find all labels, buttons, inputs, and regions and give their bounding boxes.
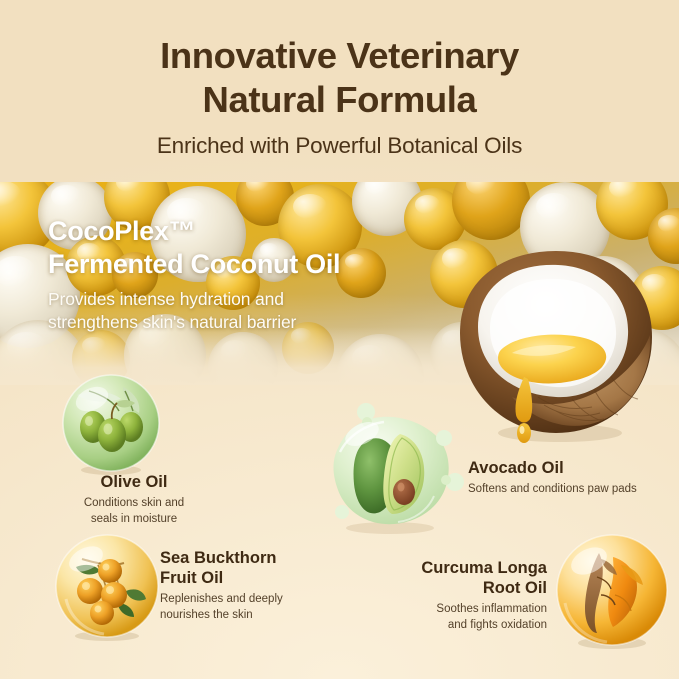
olive-oil-name: Olive Oil	[34, 472, 234, 493]
product-infographic: Innovative Veterinary Natural Formula En…	[0, 0, 679, 679]
header-section: Innovative Veterinary Natural Formula En…	[0, 0, 679, 182]
sea-buckthorn-name-line-2: Fruit Oil	[160, 568, 355, 588]
sea-buckthorn-name-line-1: Sea Buckthorn	[160, 548, 355, 568]
olive-oil-desc-line-1: Conditions skin and	[34, 496, 234, 512]
banner-text-block: CocoPlex™ Fermented Coconut Oil Provides…	[48, 215, 478, 334]
sea-buckthorn-berry	[90, 601, 114, 625]
curcuma-desc-line-2: and fights oxidation	[385, 618, 547, 634]
avocado-oil-description: Softens and conditions paw pads	[468, 482, 678, 498]
olive-oil-description: Conditions skin and seals in moisture	[34, 496, 234, 527]
page-title-line-2: Natural Formula	[160, 78, 519, 122]
coconut-oil-droplet	[517, 423, 531, 443]
curcuma-description: Soothes inflammation and fights oxidatio…	[385, 602, 547, 633]
sea-buckthorn-oil-droplet-icon	[52, 533, 162, 643]
coconut-illustration	[452, 247, 658, 452]
page-title-line-1: Innovative Veterinary	[160, 34, 519, 78]
avocado-pit	[393, 479, 415, 505]
sea-buckthorn-desc-line-1: Replenishes and deeply	[160, 592, 355, 608]
banner-heading: CocoPlex™ Fermented Coconut Oil	[48, 215, 478, 281]
sea-buckthorn-description: Replenishes and deeply nourishes the ski…	[160, 592, 355, 623]
splash-droplet	[335, 505, 349, 519]
sea-buckthorn-name: Sea Buckthorn Fruit Oil	[160, 548, 355, 588]
sea-buckthorn-berry	[98, 559, 122, 583]
banner-heading-line-2: Fermented Coconut Oil	[48, 248, 478, 281]
curcuma-text: Curcuma Longa Root Oil Soothes inflammat…	[385, 558, 547, 633]
curcuma-name-line-2: Root Oil	[385, 578, 547, 598]
banner-description-line-1: Provides intense hydration and	[48, 288, 478, 311]
avocado-oil-droplet-icon	[322, 400, 462, 536]
sea-buckthorn-desc-line-2: nourishes the skin	[160, 608, 355, 624]
curcuma-desc-line-1: Soothes inflammation	[385, 602, 547, 618]
avocado-oil-name: Avocado Oil	[468, 458, 678, 479]
coconut-half-image	[452, 247, 658, 452]
curcuma-name-line-1: Curcuma Longa	[385, 558, 547, 578]
banner-description-line-2: strengthens skin's natural barrier	[48, 311, 478, 334]
banner-heading-line-1: CocoPlex™	[48, 215, 478, 248]
curcuma-name: Curcuma Longa Root Oil	[385, 558, 547, 598]
page-subtitle: Enriched with Powerful Botanical Oils	[157, 133, 522, 159]
olive-fruit	[98, 418, 126, 452]
curcuma-oil-droplet-icon	[553, 533, 671, 651]
sea-buckthorn-berry	[77, 578, 103, 604]
page-title: Innovative Veterinary Natural Formula	[160, 34, 519, 122]
banner-description: Provides intense hydration and strengthe…	[48, 288, 478, 334]
olive-oil-droplet-icon	[59, 373, 163, 477]
olive-oil-desc-line-2: seals in moisture	[34, 512, 234, 528]
splash-droplet	[436, 430, 452, 446]
avocado-oil-text: Avocado Oil Softens and conditions paw p…	[468, 458, 678, 498]
sea-buckthorn-text: Sea Buckthorn Fruit Oil Replenishes and …	[160, 548, 355, 623]
olive-oil-text: Olive Oil Conditions skin and seals in m…	[34, 472, 234, 527]
